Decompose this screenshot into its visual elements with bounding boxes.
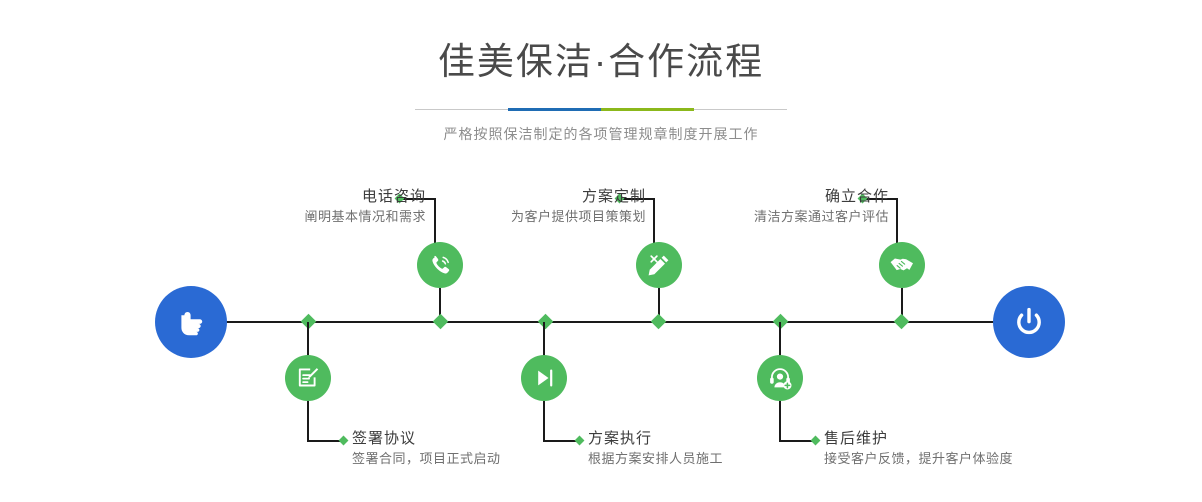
step-icon-1[interactable]: [417, 242, 463, 288]
step-label-1: 电话咨询 阐明基本情况和需求: [304, 186, 426, 227]
process-timeline: 电话咨询 阐明基本情况和需求 签署协议 签署合同，项目正式启动: [0, 0, 1202, 502]
axis-node-6: [894, 314, 910, 330]
step-icon-2[interactable]: [285, 355, 331, 401]
power-icon: [1009, 302, 1049, 342]
connector-marker-6: [811, 436, 821, 446]
step-title-3: 方案定制: [511, 186, 646, 207]
connector-marker-4: [575, 436, 585, 446]
handshake-icon: [888, 251, 916, 279]
document-edit-icon: [295, 365, 321, 391]
connector-stem-6: [779, 322, 781, 356]
step-desc-1: 阐明基本情况和需求: [304, 207, 426, 227]
step-label-6: 售后维护 接受客户反馈，提升客户体验度: [824, 428, 1013, 469]
connector-vertical-3: [653, 198, 655, 244]
step-title-2: 签署协议: [352, 428, 501, 449]
step-label-5: 确立合作 清洁方案通过客户评估: [754, 186, 889, 227]
step-label-4: 方案执行 根据方案安排人员施工: [588, 428, 723, 469]
flow-diagram-page: 佳美保洁·合作流程 严格按照保洁制定的各项管理规章制度开展工作: [0, 0, 1202, 502]
connector-vertical-5: [896, 198, 898, 244]
connector-stem-4: [543, 322, 545, 356]
connector-vertical-4: [543, 401, 545, 441]
pointing-hand-icon: [171, 302, 211, 342]
step-title-1: 电话咨询: [304, 186, 426, 207]
step-icon-3[interactable]: [636, 242, 682, 288]
step-desc-5: 清洁方案通过客户评估: [754, 207, 889, 227]
step-icon-4[interactable]: [521, 355, 567, 401]
end-node-power[interactable]: [993, 286, 1065, 358]
connector-vertical-1: [434, 198, 436, 244]
step-desc-6: 接受客户反馈，提升客户体验度: [824, 449, 1013, 469]
axis-node-3: [538, 314, 554, 330]
connector-stem-2: [307, 322, 309, 356]
step-icon-6[interactable]: [757, 355, 803, 401]
pencil-design-icon: [645, 251, 673, 279]
start-node-pointing-hand[interactable]: [155, 286, 227, 358]
step-icon-5[interactable]: [879, 242, 925, 288]
connector-vertical-6: [779, 401, 781, 441]
step-title-5: 确立合作: [754, 186, 889, 207]
step-label-3: 方案定制 为客户提供项目策策划: [511, 186, 646, 227]
step-title-6: 售后维护: [824, 428, 1013, 449]
step-title-4: 方案执行: [588, 428, 723, 449]
axis-node-4: [651, 314, 667, 330]
step-desc-4: 根据方案安排人员施工: [588, 449, 723, 469]
play-execute-icon: [531, 365, 557, 391]
phone-call-icon: [426, 251, 454, 279]
step-desc-3: 为客户提供项目策策划: [511, 207, 646, 227]
step-label-2: 签署协议 签署合同，项目正式启动: [352, 428, 501, 469]
connector-vertical-2: [307, 401, 309, 441]
axis-node-2: [433, 314, 449, 330]
connector-marker-2: [339, 436, 349, 446]
step-desc-2: 签署合同，项目正式启动: [352, 449, 501, 469]
customer-service-add-icon: [767, 365, 793, 391]
